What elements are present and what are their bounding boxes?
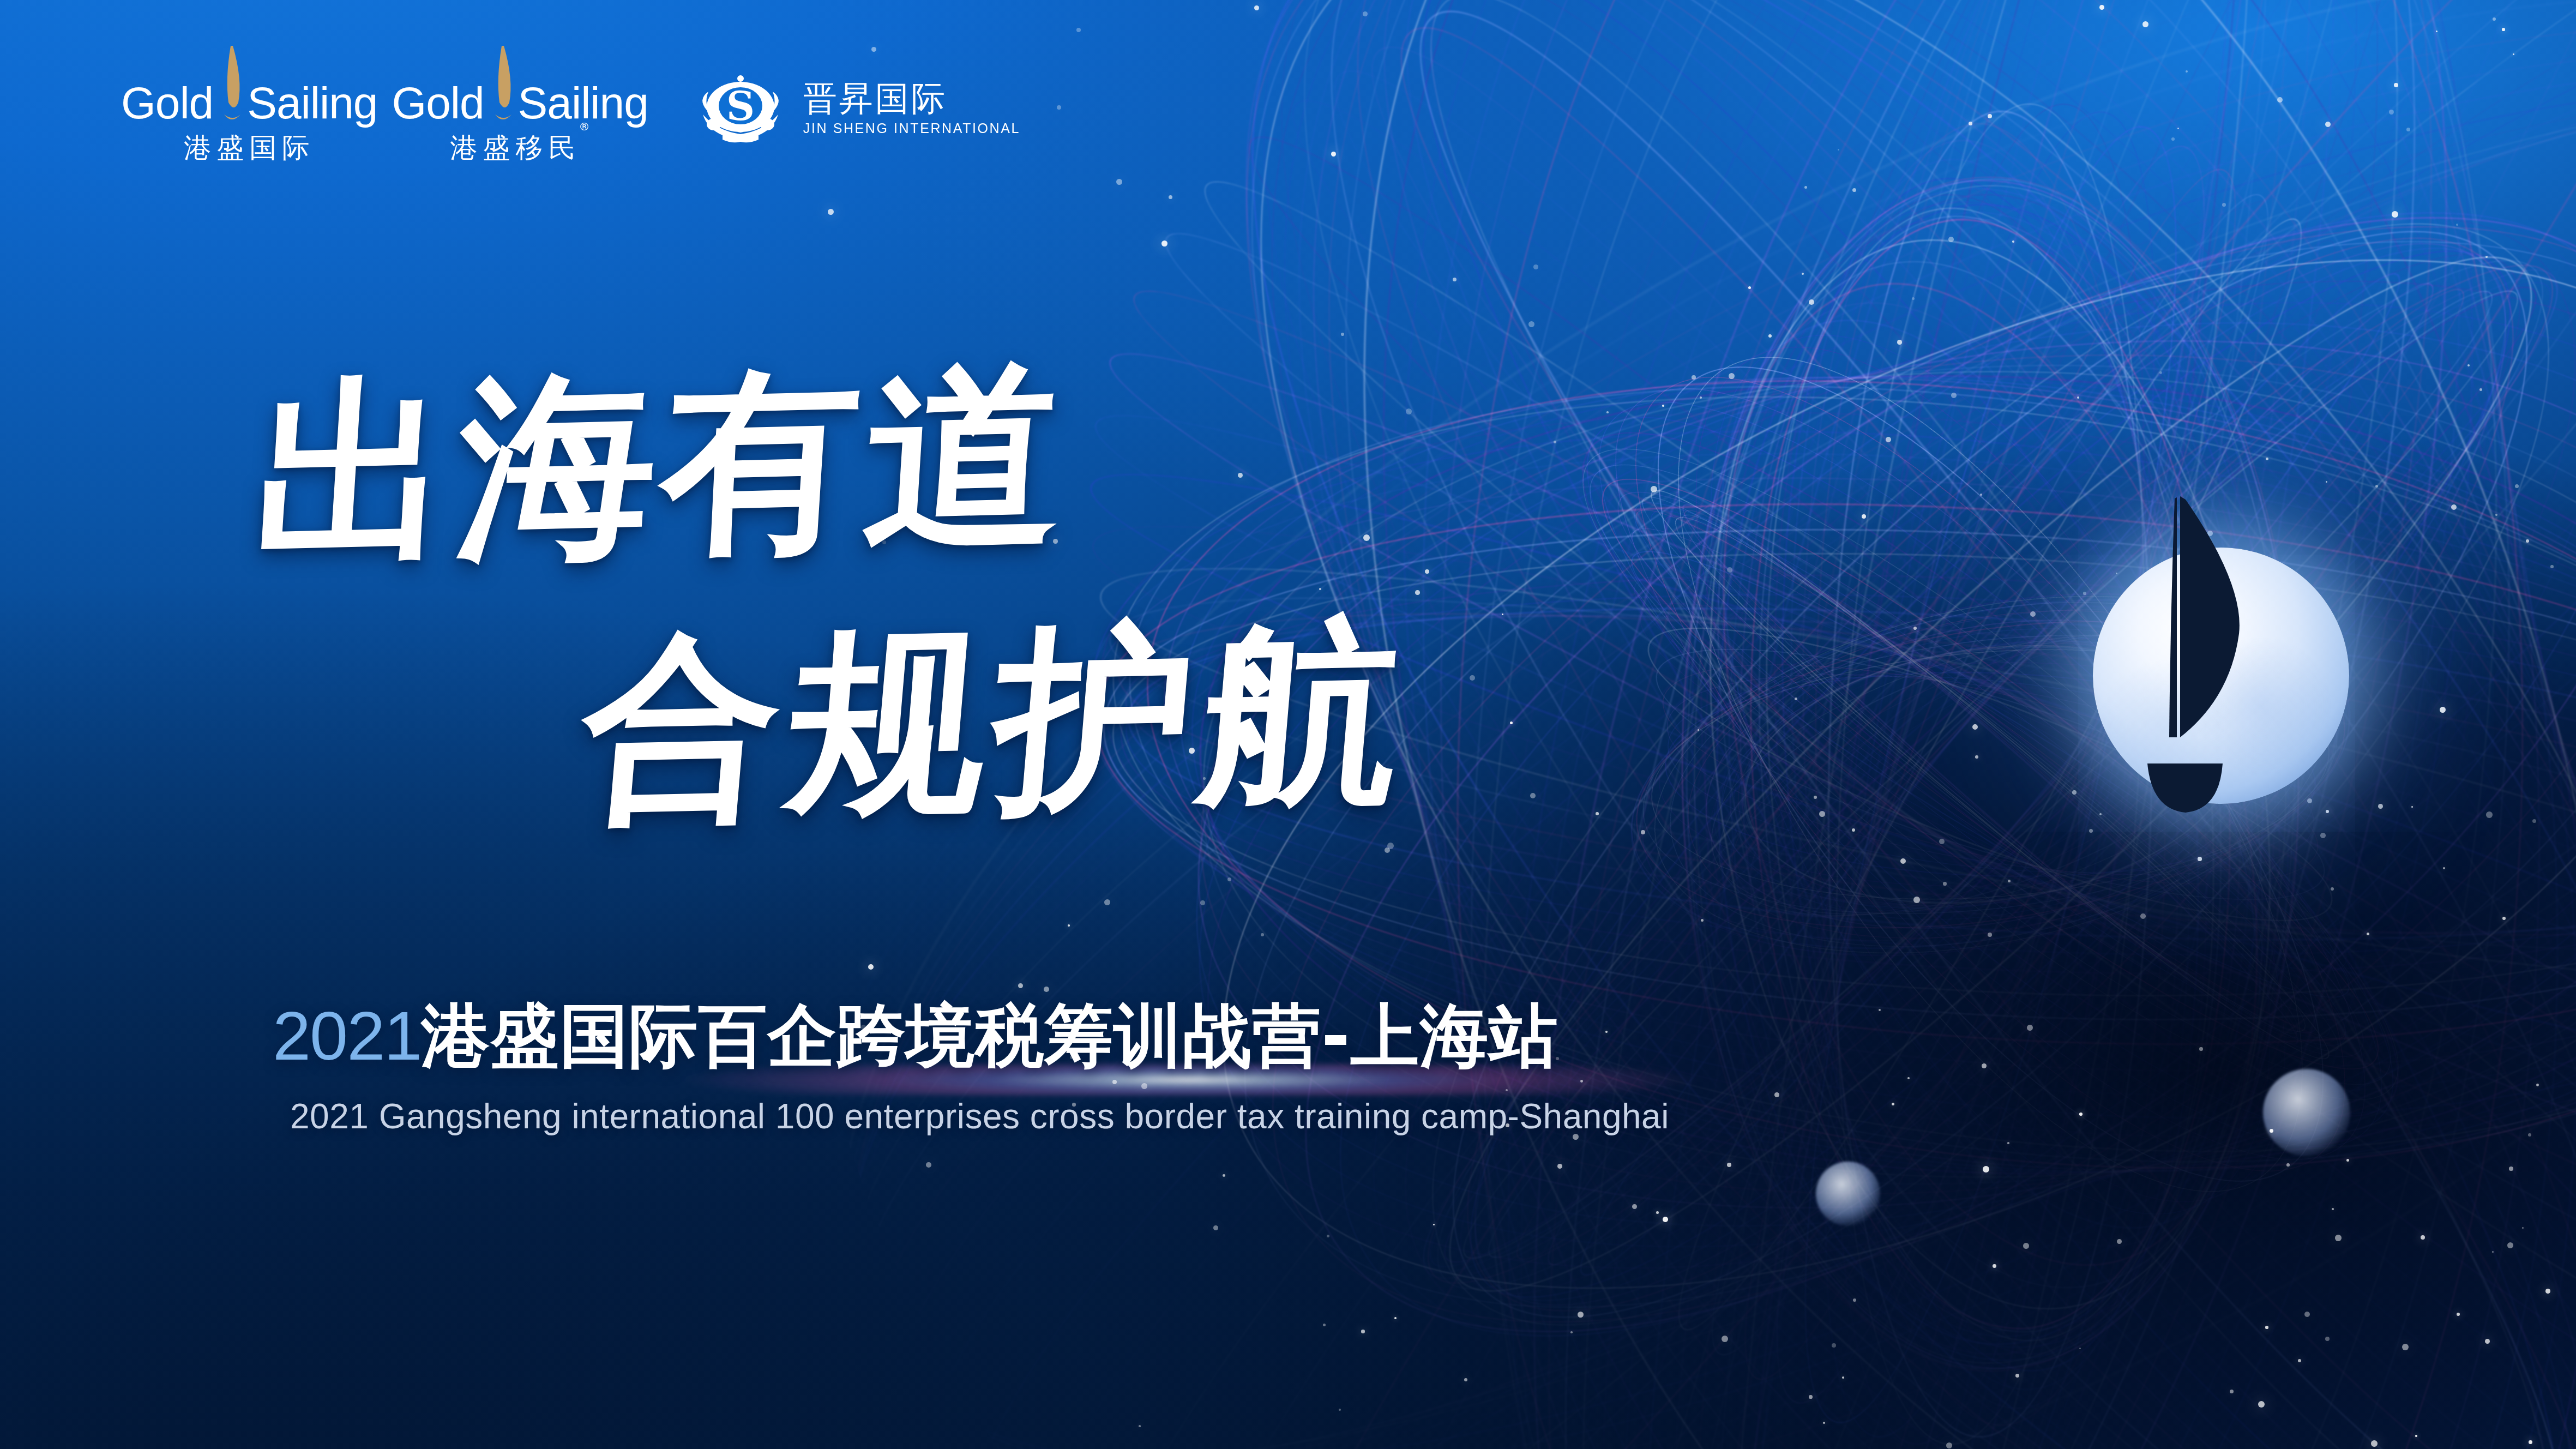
sail-icon (214, 65, 249, 124)
subtitle-english: 2021 Gangsheng international 100 enterpr… (290, 1096, 1669, 1137)
subtitle-year: 2021 (273, 997, 421, 1074)
gold-word-2: Gold (392, 82, 484, 124)
jin-sheng-emblem-icon: S (692, 68, 789, 149)
headline-calligraphy: 出海有道 合规护航 (256, 334, 1750, 966)
event-banner: Gold Sailing 港盛国际 Gold (0, 0, 2576, 1449)
gold-word: Gold (121, 82, 213, 124)
sailing-word-2: Sailing (518, 82, 648, 124)
logo-gold-sailing-international: Gold Sailing 港盛国际 (121, 65, 392, 166)
logo-jin-sheng-international: S 晋昇国际 JIN SHENG INTERNATIONAL (692, 65, 1020, 149)
glow-orb-small (1816, 1162, 1880, 1226)
logo-gold-sailing-immigration: Gold Sailing 港盛移民® (392, 65, 662, 166)
logo-bar: Gold Sailing 港盛国际 Gold (121, 65, 1020, 166)
gold-sailing-wordmark: Gold Sailing (121, 65, 377, 124)
logo-chinese-name-gangsheng-immigration: 港盛移民® (392, 130, 648, 166)
headline-line-1: 出海有道 (247, 324, 1077, 610)
jin-sheng-text: 晋昇国际 JIN SHENG INTERNATIONAL (803, 81, 1020, 136)
gold-sailing-wordmark-2: Gold Sailing (392, 65, 648, 124)
headline-line-2: 合规护航 (571, 581, 1420, 865)
glow-orb-large (2263, 1069, 2350, 1156)
subtitle-chinese: 2021港盛国际百企跨境税筹训战营-上海站 (273, 999, 1558, 1073)
svg-text:S: S (726, 83, 755, 129)
jin-sheng-english: JIN SHENG INTERNATIONAL (803, 121, 1020, 136)
sailboat-icon (2116, 491, 2268, 829)
sailing-word: Sailing (247, 82, 377, 124)
logo-chinese-name-gangsheng-international: 港盛国际 (121, 130, 377, 166)
subtitle-chinese-text: 港盛国际百企跨境税筹训战营-上海站 (421, 996, 1558, 1076)
sail-icon-2 (485, 65, 520, 124)
jin-sheng-chinese: 晋昇国际 (803, 81, 1020, 116)
